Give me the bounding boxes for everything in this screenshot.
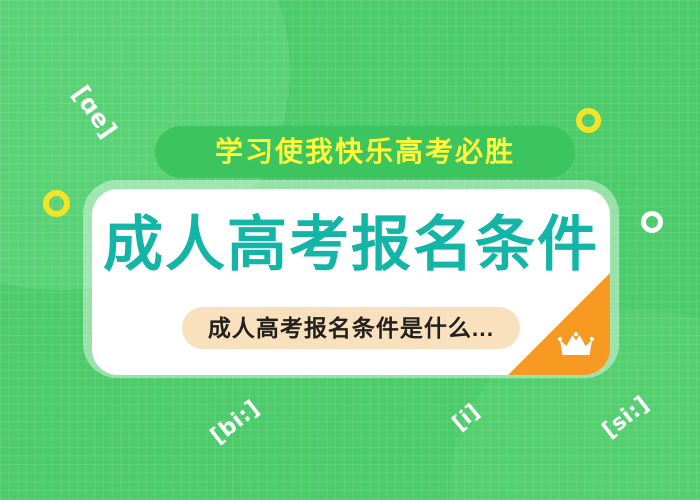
subtitle-text: 成人高考报名条件是什么... [208, 317, 494, 340]
top-banner: 学习使我快乐高考必胜 [155, 126, 575, 178]
poster-canvas: [ɑe] [bi:] [i] [si:] 学习使我快乐高考必胜 成人高考报名条件… [0, 0, 700, 500]
decoration-ring-yellow-left [43, 190, 70, 217]
decoration-ring-white-right [641, 211, 663, 233]
top-banner-text: 学习使我快乐高考必胜 [215, 138, 515, 166]
decoration-ring-yellow-right [576, 108, 601, 133]
card-corner-accent [508, 273, 610, 375]
subtitle-pill: 成人高考报名条件是什么... [182, 307, 520, 349]
main-card: 成人高考报名条件 成人高考报名条件是什么... [92, 189, 610, 375]
crown-icon [558, 332, 594, 358]
page-title: 成人高考报名条件 [92, 215, 610, 275]
